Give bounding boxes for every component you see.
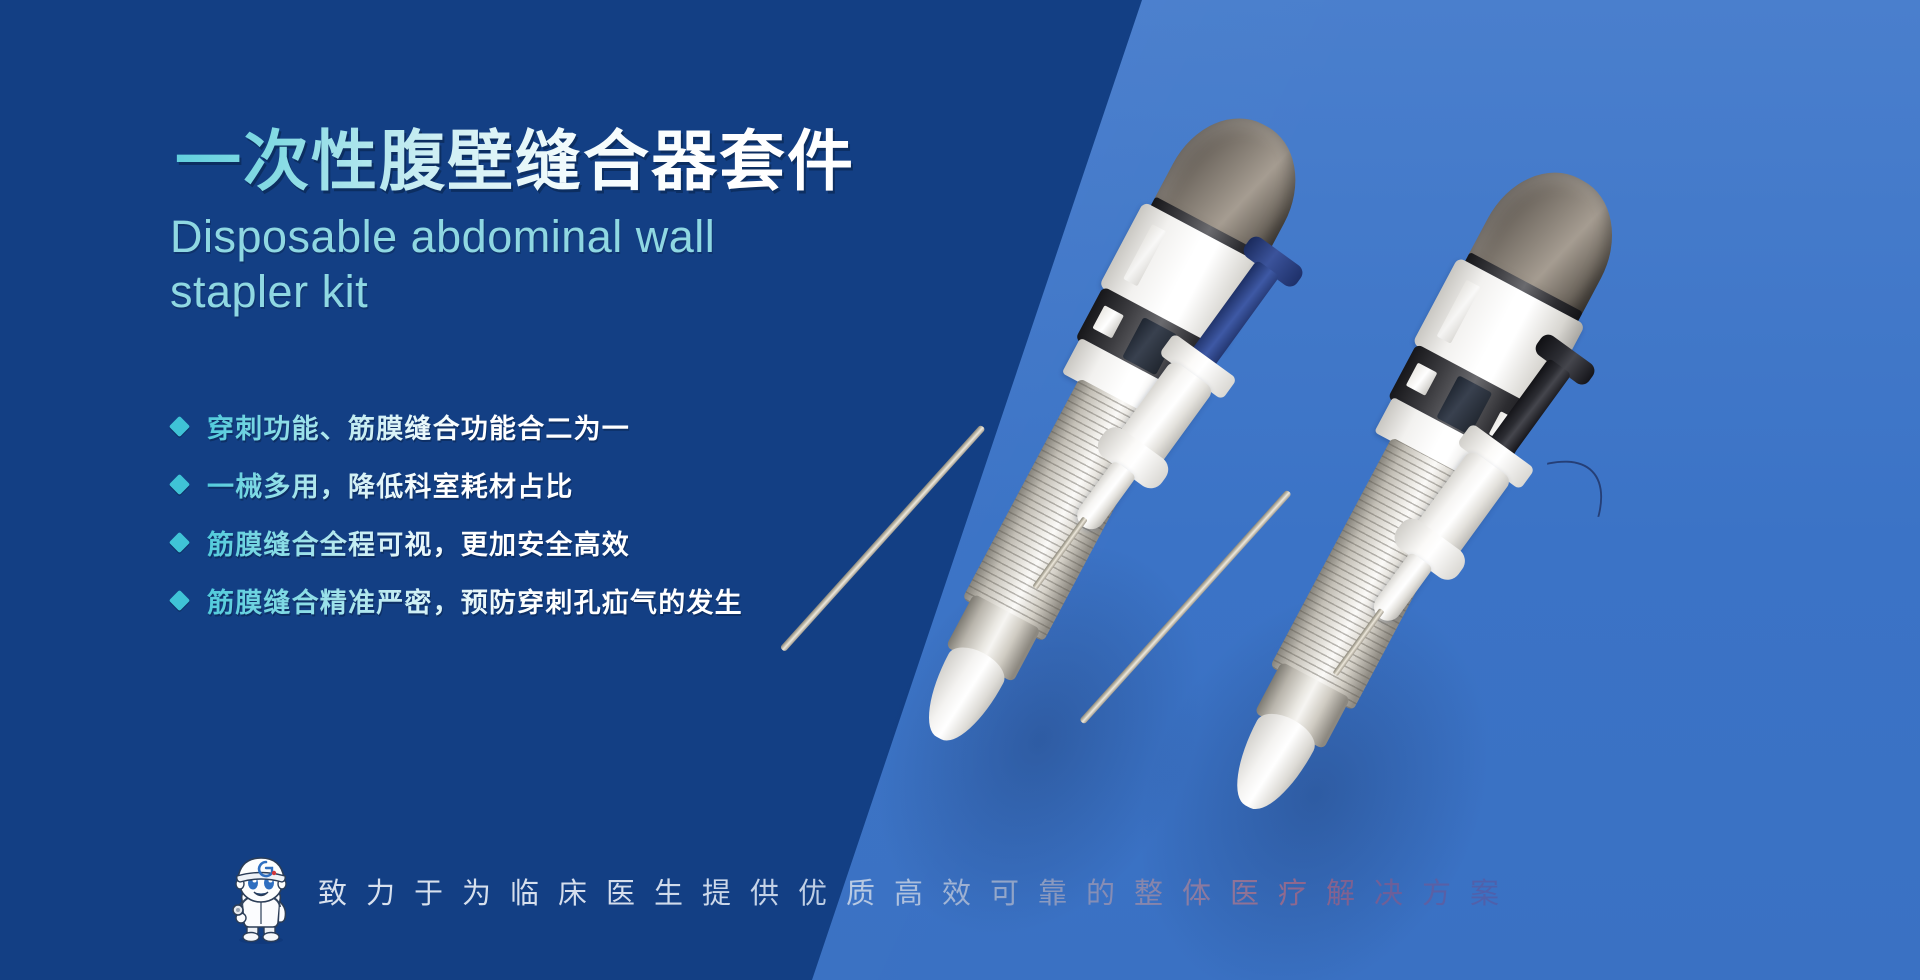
footer-tagline-band: 致力于为临床医生提供优质高效可靠的整体医疗解决方案 bbox=[0, 830, 1920, 980]
diamond-bullet-icon bbox=[169, 589, 190, 610]
feature-label: 一械多用，降低科室耗材占比 bbox=[207, 465, 574, 504]
feature-label: 穿刺功能、筋膜缝合功能合二为一 bbox=[207, 407, 630, 446]
footer-tagline: 致力于为临床医生提供优质高效可靠的整体医疗解决方案 bbox=[318, 870, 1518, 912]
page-title-en-line1: Disposable abdominal wall bbox=[170, 210, 810, 265]
product-banner: 一次性腹壁缝合器套件 Disposable abdominal wall sta… bbox=[0, 0, 1920, 980]
page-title-cn: 一次性腹壁缝合器套件 bbox=[175, 123, 855, 201]
diamond-bullet-icon bbox=[169, 415, 190, 436]
feature-label: 筋膜缝合全程可视，更加安全高效 bbox=[207, 523, 630, 562]
page-title-en: Disposable abdominal wall stapler kit bbox=[170, 210, 810, 320]
feature-item: 一械多用，降低科室耗材占比 bbox=[172, 456, 743, 512]
feature-label: 筋膜缝合精准严密，预防穿刺孔疝气的发生 bbox=[207, 581, 743, 620]
feature-item: 穿刺功能、筋膜缝合功能合二为一 bbox=[172, 398, 743, 454]
feature-item: 筋膜缝合全程可视，更加安全高效 bbox=[172, 514, 743, 570]
page-title-en-line2: stapler kit bbox=[170, 265, 810, 320]
doctor-mascot-icon bbox=[222, 848, 300, 944]
feature-item: 筋膜缝合精准严密，预防穿刺孔疝气的发生 bbox=[172, 572, 743, 628]
feature-list: 穿刺功能、筋膜缝合功能合二为一 一械多用，降低科室耗材占比 筋膜缝合全程可视，更… bbox=[172, 398, 743, 630]
diamond-bullet-icon bbox=[169, 531, 190, 552]
diamond-bullet-icon bbox=[169, 473, 190, 494]
